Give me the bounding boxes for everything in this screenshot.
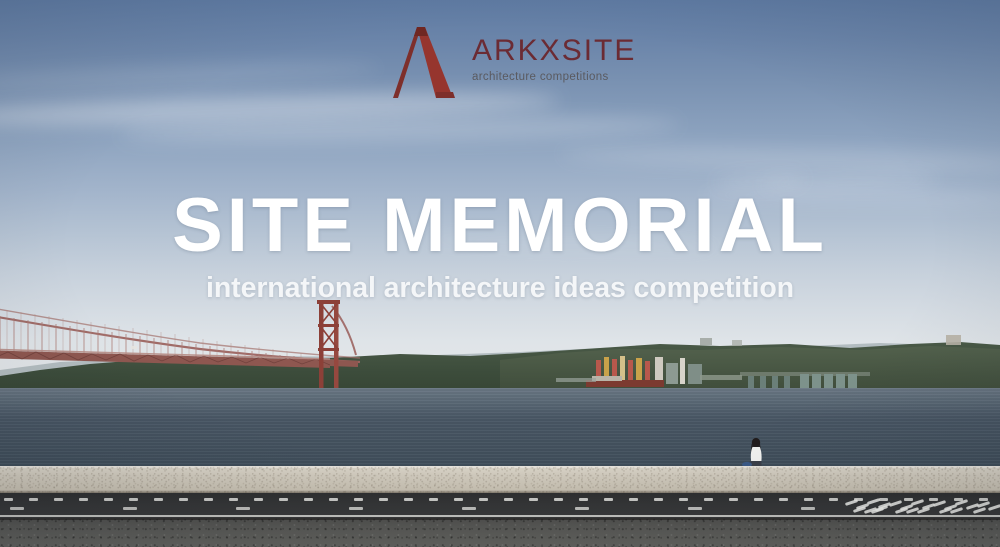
lane-dash (801, 507, 815, 510)
lane-dash (704, 498, 713, 501)
lane-dash (236, 507, 250, 510)
lane-dash (529, 498, 538, 501)
lane-dash (454, 498, 463, 501)
lane-dash (679, 498, 688, 501)
water-surface (0, 388, 1000, 470)
lane-dash (654, 498, 663, 501)
lane-dash (829, 498, 838, 501)
lane-dash (229, 498, 238, 501)
lane-dash (279, 498, 288, 501)
lane-dash (729, 498, 738, 501)
vehicle-on-bridge (131, 346, 137, 349)
lane-dash (54, 498, 63, 501)
cloud-streak-icon (0, 60, 380, 92)
lane-dash (575, 507, 589, 510)
foreground-texture (0, 518, 1000, 547)
crossing-chevron (933, 500, 946, 507)
lane-dash (462, 507, 476, 510)
lane-dash (629, 498, 638, 501)
lane-dash (604, 498, 613, 501)
water-ripples (0, 388, 1000, 470)
logo-text-block: ARKXSITE architecture competitions (472, 24, 636, 84)
crossing-chevron (867, 498, 880, 505)
logo-mark-left-stroke (393, 27, 421, 98)
lane-dash (129, 498, 138, 501)
lane-dash (4, 498, 13, 501)
crossing-chevron (845, 499, 858, 506)
bridge-main-cable (0, 306, 360, 358)
lane-dash (29, 498, 38, 501)
lane-dash (254, 498, 263, 501)
asphalt-path (0, 493, 1000, 518)
lane-dash (404, 498, 413, 501)
page-subtitle: international architecture ideas competi… (0, 274, 1000, 303)
lane-dash (304, 498, 313, 501)
lane-dash (204, 498, 213, 501)
lane-dash (688, 507, 702, 510)
logo-tagline: architecture competitions (472, 72, 636, 84)
arkxsite-a-mark (392, 24, 460, 100)
crossing-chevron (955, 499, 968, 506)
cloud-streak-icon (560, 145, 1000, 173)
crossing-chevrons (845, 500, 1000, 513)
crossing-chevron (973, 507, 986, 514)
lane-dash (123, 507, 137, 510)
lane-dash (349, 507, 363, 510)
crossing-chevron (889, 500, 902, 507)
lane-dash (79, 498, 88, 501)
logo-mark-base (436, 92, 455, 98)
lane-dash (554, 498, 563, 501)
logo-wordmark: ARKXSITE (472, 36, 636, 66)
lane-dash (429, 498, 438, 501)
promenade-texture (0, 466, 1000, 493)
poster-image: ARKXSITE architecture competitions SITE … (0, 0, 1000, 547)
lane-dash (479, 498, 488, 501)
promenade-wall (0, 466, 1000, 493)
road-edge-line (0, 515, 1000, 517)
person-sitting-on-wall (742, 437, 770, 468)
lane-dash (154, 498, 163, 501)
foreground-pavement (0, 518, 1000, 547)
lane-dash (579, 498, 588, 501)
logo-mark-right-stroke (417, 27, 453, 98)
lane-dash (504, 498, 513, 501)
lane-dash (104, 498, 113, 501)
lane-dash (329, 498, 338, 501)
lane-dash (379, 498, 388, 501)
headline-block: SITE MEMORIAL international architecture… (0, 188, 1000, 303)
lane-dash (754, 498, 763, 501)
arkxsite-logo[interactable]: ARKXSITE architecture competitions (392, 24, 636, 100)
lane-dash (10, 507, 24, 510)
lane-dash (779, 498, 788, 501)
bridge-tower (317, 300, 340, 393)
page-title: SITE MEMORIAL (0, 188, 1000, 264)
lane-dash (354, 498, 363, 501)
logo-mark-apex (414, 27, 428, 36)
lane-dash (179, 498, 188, 501)
lane-dash (804, 498, 813, 501)
crossing-chevron (911, 499, 924, 506)
person-shirt (751, 447, 762, 463)
crossing-chevron (988, 504, 1000, 511)
